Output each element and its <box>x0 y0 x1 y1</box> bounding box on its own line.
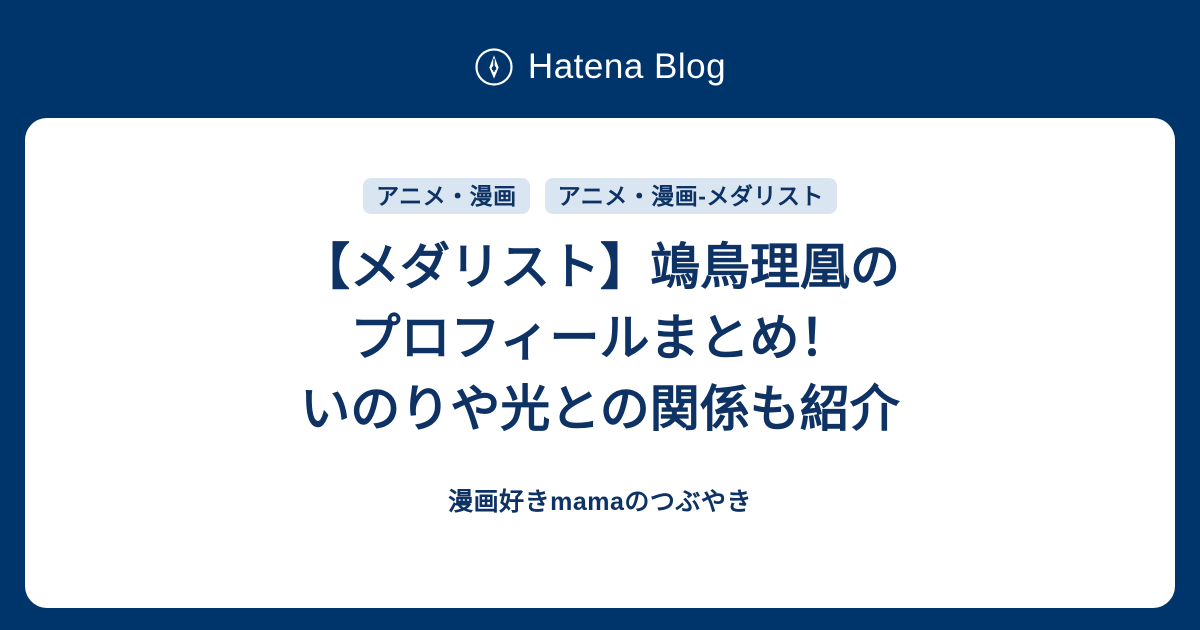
entry-title: 【メダリスト】鴗鳥理凰の プロフィールまとめ！ いのりや光との関係も紹介 <box>85 232 1115 445</box>
blog-name: 漫画好きmamaのつぶやき <box>85 487 1115 517</box>
category-tag-anime-manga-medalist[interactable]: アニメ・漫画-メダリスト <box>545 178 837 214</box>
pen-nib-in-circle-icon <box>474 47 514 87</box>
og-image-canvas: Hatena Blog アニメ・漫画 アニメ・漫画-メダリスト 【メダリスト】鴗… <box>0 0 1200 630</box>
entry-card: アニメ・漫画 アニメ・漫画-メダリスト 【メダリスト】鴗鳥理凰の プロフィールま… <box>25 118 1175 608</box>
entry-title-line-1: 【メダリスト】鴗鳥理凰の <box>85 232 1115 303</box>
entry-title-line-2: プロフィールまとめ！ <box>85 303 1115 374</box>
hatena-blog-brand[interactable]: Hatena Blog <box>0 36 1200 98</box>
brand-name: Hatena Blog <box>528 47 726 87</box>
category-tag-list: アニメ・漫画 アニメ・漫画-メダリスト <box>363 178 837 214</box>
category-tag-anime-manga[interactable]: アニメ・漫画 <box>363 178 530 214</box>
entry-title-line-3: いのりや光との関係も紹介 <box>85 374 1115 445</box>
